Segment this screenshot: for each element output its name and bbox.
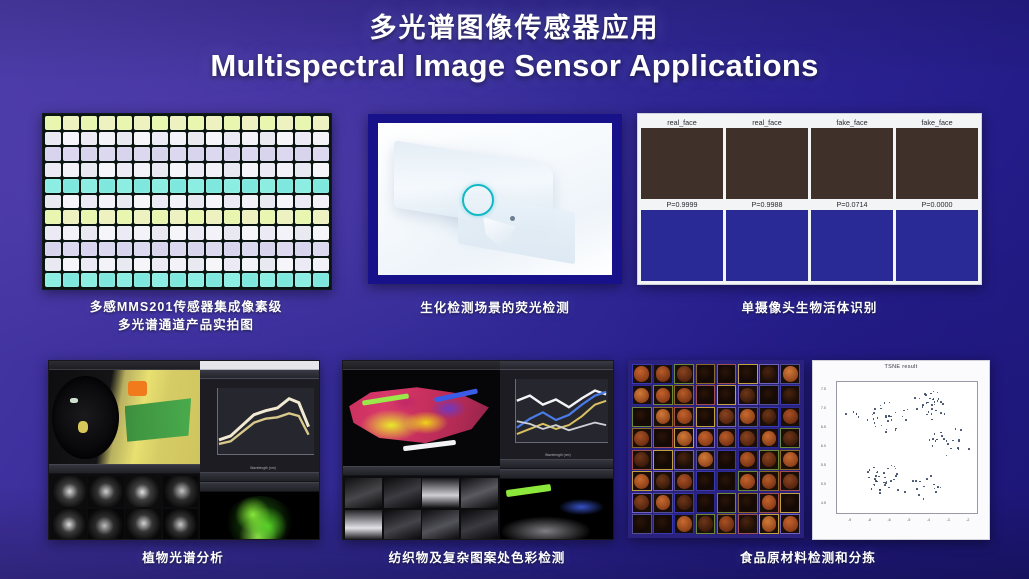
filter-cell bbox=[188, 273, 204, 287]
specimen bbox=[740, 431, 755, 446]
annotation-line-green bbox=[506, 484, 552, 497]
scatter-point bbox=[930, 475, 932, 477]
specimen-cell bbox=[674, 450, 694, 470]
filter-cell bbox=[242, 195, 258, 209]
filter-cell bbox=[134, 147, 150, 161]
filter-cell bbox=[277, 226, 293, 240]
filter-cell bbox=[117, 210, 133, 224]
filter-cell bbox=[117, 132, 133, 146]
scatter-point bbox=[890, 480, 892, 482]
app-menubar[interactable] bbox=[343, 361, 500, 370]
filter-cell bbox=[188, 195, 204, 209]
channel-thumbnail[interactable] bbox=[345, 478, 382, 508]
filter-cell bbox=[99, 242, 115, 256]
scatter-point bbox=[929, 439, 931, 441]
filter-cell bbox=[313, 147, 329, 161]
specimen-cell bbox=[738, 471, 758, 491]
specimen-cell bbox=[780, 385, 800, 405]
filter-cell bbox=[277, 116, 293, 130]
filter-cell bbox=[170, 132, 186, 146]
filter-cell bbox=[277, 132, 293, 146]
face-label: real_face bbox=[641, 117, 723, 128]
specimen bbox=[634, 516, 649, 531]
brand-text bbox=[125, 398, 192, 441]
filter-cell bbox=[152, 116, 168, 130]
x-axis-tick: -4 bbox=[927, 518, 930, 522]
filter-cell bbox=[170, 179, 186, 193]
channel-thumbnail[interactable] bbox=[461, 478, 498, 508]
filter-cell bbox=[277, 147, 293, 161]
classification-result-view bbox=[500, 479, 613, 540]
filter-cell bbox=[242, 179, 258, 193]
channel-thumbnail[interactable] bbox=[422, 510, 459, 540]
specimen bbox=[677, 366, 692, 381]
app-menubar[interactable] bbox=[49, 361, 200, 370]
scatter-point bbox=[958, 439, 960, 441]
scatter-point bbox=[931, 404, 933, 406]
scatter-point bbox=[958, 441, 960, 443]
specimen bbox=[783, 516, 798, 531]
filter-cell bbox=[99, 258, 115, 272]
scatter-point bbox=[932, 438, 934, 440]
caption-textile-color: 纺织物及复杂图案处色彩检测 bbox=[342, 549, 612, 567]
filter-cell bbox=[134, 226, 150, 240]
specimen bbox=[698, 366, 713, 381]
scatter-point bbox=[884, 477, 886, 479]
filter-cell bbox=[81, 163, 97, 177]
caption-line-1: 生化检测场景的荧光检测 bbox=[368, 299, 622, 317]
filter-cell bbox=[152, 163, 168, 177]
scatter-point bbox=[877, 417, 879, 419]
specimen bbox=[698, 388, 713, 403]
filter-cell bbox=[206, 195, 222, 209]
plant-live-view bbox=[49, 370, 200, 464]
probability-label: P=0.0714 bbox=[811, 199, 893, 210]
filter-cell bbox=[170, 273, 186, 287]
scatter-point bbox=[856, 413, 858, 415]
spectral-curves bbox=[515, 379, 608, 443]
thumbnail-pane-header bbox=[343, 466, 500, 476]
filter-cell bbox=[45, 132, 61, 146]
scatter-point bbox=[868, 477, 870, 479]
panel-food-sorting bbox=[628, 360, 804, 538]
filter-cell bbox=[81, 179, 97, 193]
filter-cell bbox=[295, 179, 311, 193]
specimen-cell bbox=[696, 364, 716, 384]
filter-cell bbox=[206, 273, 222, 287]
scatter-point bbox=[937, 392, 939, 394]
y-axis-tick: 7.5 bbox=[821, 387, 826, 391]
filter-cell bbox=[224, 132, 240, 146]
filter-cell bbox=[99, 179, 115, 193]
scatter-point bbox=[915, 480, 917, 482]
scatter-point bbox=[879, 492, 881, 494]
filter-cell bbox=[313, 163, 329, 177]
scatter-point bbox=[871, 488, 873, 490]
filter-cell bbox=[63, 226, 79, 240]
channel-thumbnail[interactable] bbox=[163, 476, 199, 507]
caption-line-1: 多感MMS201传感器集成像素级 bbox=[42, 298, 330, 316]
caption-sensor-array: 多感MMS201传感器集成像素级 多光谱通道产品实拍图 bbox=[42, 298, 330, 334]
specimen-cell bbox=[632, 364, 652, 384]
filter-cell bbox=[260, 226, 276, 240]
filter-cell bbox=[45, 195, 61, 209]
specimen-cell bbox=[738, 364, 758, 384]
filter-cell bbox=[295, 116, 311, 130]
specimen-cell bbox=[738, 385, 758, 405]
caption-plant-spectra: 植物光谱分析 bbox=[48, 549, 318, 567]
filter-cell bbox=[63, 195, 79, 209]
filter-cell bbox=[152, 226, 168, 240]
filter-cell bbox=[81, 210, 97, 224]
filter-cell bbox=[260, 195, 276, 209]
specimen bbox=[634, 366, 649, 381]
scatter-point bbox=[874, 408, 876, 410]
specimen-cell bbox=[653, 471, 673, 491]
scatter-point bbox=[928, 411, 930, 413]
filter-cell bbox=[170, 226, 186, 240]
specimen bbox=[783, 388, 798, 403]
specimen-cell bbox=[717, 514, 737, 534]
filter-cell bbox=[206, 132, 222, 146]
plant-right-pane: Wavelength (nm) bbox=[200, 361, 319, 539]
scatter-point bbox=[940, 487, 942, 489]
specimen bbox=[740, 452, 755, 467]
specimen bbox=[762, 516, 777, 531]
specimen-cell bbox=[780, 471, 800, 491]
filter-cell bbox=[99, 226, 115, 240]
y-axis-tick: 5.5 bbox=[821, 463, 826, 467]
filter-cell bbox=[277, 195, 293, 209]
filter-cell bbox=[117, 147, 133, 161]
filter-cell bbox=[206, 163, 222, 177]
filter-cell bbox=[63, 210, 79, 224]
specimen bbox=[634, 388, 649, 403]
filter-cell bbox=[45, 210, 61, 224]
scatter-point bbox=[940, 401, 942, 403]
caption-fluorescence: 生化检测场景的荧光检测 bbox=[368, 299, 622, 317]
specimen-cell bbox=[696, 514, 716, 534]
caption-line-1: 植物光谱分析 bbox=[48, 549, 318, 567]
face-label: fake_face bbox=[811, 117, 893, 128]
specimen bbox=[656, 495, 671, 510]
spectrograph-titlebar bbox=[500, 361, 613, 370]
y-axis-tick: 4.5 bbox=[821, 501, 826, 505]
textile-false-color-view bbox=[343, 370, 500, 466]
filter-cell bbox=[99, 147, 115, 161]
specimen bbox=[698, 409, 713, 424]
filter-cell bbox=[134, 210, 150, 224]
scatter-point bbox=[881, 425, 883, 427]
specimen-cell bbox=[632, 514, 652, 534]
specimen-cell bbox=[696, 407, 716, 427]
channel-thumbnail[interactable] bbox=[51, 476, 87, 507]
specimen bbox=[656, 409, 671, 424]
filter-cell bbox=[206, 226, 222, 240]
filter-cell bbox=[63, 116, 79, 130]
filter-cell bbox=[45, 242, 61, 256]
scatter-point bbox=[897, 489, 899, 491]
specimen-cell bbox=[738, 450, 758, 470]
scatter-point bbox=[869, 469, 871, 471]
scatter-point bbox=[918, 494, 920, 496]
specimen-cell bbox=[759, 428, 779, 448]
scatter-point bbox=[934, 404, 936, 406]
specimen-cell bbox=[717, 428, 737, 448]
scatter-point bbox=[887, 468, 889, 470]
scatter-point bbox=[958, 448, 960, 450]
specimen-cell bbox=[674, 514, 694, 534]
filter-cell bbox=[170, 116, 186, 130]
y-axis-tick: 6.5 bbox=[821, 425, 826, 429]
plant-left-pane bbox=[49, 361, 200, 539]
scatter-point bbox=[891, 465, 893, 467]
scatter-point bbox=[934, 488, 936, 490]
scatter-point bbox=[885, 417, 887, 419]
scatter-point bbox=[907, 409, 909, 411]
specimen-cell bbox=[738, 514, 758, 534]
filter-cell bbox=[313, 132, 329, 146]
filter-cell bbox=[152, 273, 168, 287]
channel-thumbnail[interactable] bbox=[88, 476, 124, 507]
specimen bbox=[677, 452, 692, 467]
specimen bbox=[762, 452, 777, 467]
scatter-point bbox=[889, 402, 891, 404]
filter-cell bbox=[81, 195, 97, 209]
filter-cell bbox=[277, 242, 293, 256]
scatter-point bbox=[876, 481, 878, 483]
scatter-point bbox=[867, 471, 869, 473]
specimen bbox=[719, 431, 734, 446]
fluorescence-marker-icon bbox=[462, 184, 494, 216]
filter-cell bbox=[260, 242, 276, 256]
filter-cell bbox=[313, 195, 329, 209]
specimen-cell bbox=[653, 493, 673, 513]
specimen-cell bbox=[738, 493, 758, 513]
filter-cell bbox=[206, 116, 222, 130]
filter-cell bbox=[117, 273, 133, 287]
filter-cell bbox=[260, 116, 276, 130]
filter-cell bbox=[170, 210, 186, 224]
specimen-cell bbox=[632, 385, 652, 405]
cartridge-port bbox=[510, 216, 515, 221]
specimen-cell bbox=[696, 450, 716, 470]
specimen bbox=[740, 495, 755, 510]
channel-thumbnail[interactable] bbox=[422, 478, 459, 508]
x-axis-tick: -8 bbox=[868, 518, 871, 522]
specimen bbox=[634, 452, 649, 467]
scatter-point bbox=[890, 416, 892, 418]
slide-title-block: 多光谱图像传感器应用 Multispectral Image Sensor Ap… bbox=[0, 14, 1029, 83]
filter-cell bbox=[117, 116, 133, 130]
specimen-cell bbox=[632, 407, 652, 427]
fluorescence-photo bbox=[378, 123, 612, 275]
scatter-point bbox=[937, 400, 939, 402]
specimen-cell bbox=[759, 450, 779, 470]
scatter-plot-area: -9-8-6-5-4-3-27.57.06.56.05.55.04.5 bbox=[836, 381, 979, 515]
page-title-chinese: 多光谱图像传感器应用 bbox=[0, 14, 1029, 44]
specimen-cell bbox=[653, 364, 673, 384]
filter-cell bbox=[188, 226, 204, 240]
filter-cell bbox=[313, 242, 329, 256]
scatter-point bbox=[873, 418, 875, 420]
specimen-cell bbox=[717, 493, 737, 513]
filter-cell bbox=[117, 195, 133, 209]
filter-cell bbox=[81, 226, 97, 240]
page-title-english: Multispectral Image Sensor Applications bbox=[0, 49, 1029, 84]
scatter-point bbox=[968, 448, 970, 450]
filter-cell bbox=[81, 147, 97, 161]
spectral-curves bbox=[217, 388, 314, 455]
filter-cell bbox=[242, 116, 258, 130]
scatter-point bbox=[873, 467, 875, 469]
specimen bbox=[698, 452, 713, 467]
specimen-cell bbox=[759, 385, 779, 405]
filter-cell bbox=[45, 258, 61, 272]
filter-cell bbox=[63, 132, 79, 146]
specimen bbox=[740, 388, 755, 403]
specimen bbox=[783, 495, 798, 510]
filter-cell bbox=[224, 258, 240, 272]
panel-textile-color: Wavelength (nm) bbox=[342, 360, 614, 540]
specimen-cell bbox=[674, 493, 694, 513]
brand-mark bbox=[128, 381, 148, 396]
channel-thumbnail[interactable] bbox=[384, 478, 421, 508]
scatter-point bbox=[893, 479, 895, 481]
filter-cell bbox=[224, 147, 240, 161]
caption-food-sorting: 食品原材料检测和分拣 bbox=[628, 549, 988, 567]
scatter-point bbox=[845, 413, 847, 415]
filter-cell bbox=[224, 179, 240, 193]
face-image-row: real_face real_face fake_face fake_face bbox=[641, 117, 978, 199]
specimen bbox=[656, 388, 671, 403]
filter-cell bbox=[313, 210, 329, 224]
filter-cell bbox=[313, 116, 329, 130]
chart-title: TSNE result bbox=[813, 364, 989, 370]
app-tabbar[interactable] bbox=[200, 361, 319, 370]
channel-thumbnail[interactable] bbox=[461, 510, 498, 540]
scatter-point bbox=[875, 426, 877, 428]
specimen-cell bbox=[696, 385, 716, 405]
specimen-cell bbox=[780, 364, 800, 384]
specimen-cell bbox=[717, 385, 737, 405]
specimen bbox=[698, 495, 713, 510]
scatter-point bbox=[912, 480, 914, 482]
specimen-cell bbox=[674, 364, 694, 384]
channel-thumbnail[interactable] bbox=[51, 509, 87, 540]
panel-sensor-array bbox=[42, 113, 332, 290]
filter-cell bbox=[277, 210, 293, 224]
channel-thumbnail[interactable] bbox=[125, 509, 161, 540]
scatter-point bbox=[932, 445, 934, 447]
filter-cell bbox=[188, 179, 204, 193]
channel-thumbnail[interactable] bbox=[88, 509, 124, 540]
panel-header-strip bbox=[500, 459, 613, 469]
spectrograph-chart: Wavelength (nm) bbox=[500, 370, 613, 459]
specimen-cell bbox=[780, 450, 800, 470]
scatter-point bbox=[927, 402, 929, 404]
filter-cell bbox=[99, 195, 115, 209]
filter-cell bbox=[242, 163, 258, 177]
filter-cell bbox=[134, 163, 150, 177]
seed-sample bbox=[70, 398, 78, 403]
spectrograph-chart: Wavelength (nm) bbox=[200, 379, 319, 472]
channel-thumbnail[interactable] bbox=[125, 476, 161, 507]
filter-cell bbox=[99, 116, 115, 130]
specimen-cell bbox=[759, 514, 779, 534]
scatter-point bbox=[926, 478, 928, 480]
caption-line-2: 多光谱通道产品实拍图 bbox=[42, 316, 330, 334]
specimen-cell bbox=[653, 385, 673, 405]
specimen bbox=[698, 474, 713, 489]
classification-header bbox=[200, 482, 319, 492]
scatter-point bbox=[933, 484, 935, 486]
classification-header bbox=[500, 469, 613, 479]
filter-cell bbox=[134, 273, 150, 287]
filter-cell bbox=[63, 147, 79, 161]
specimen bbox=[698, 431, 713, 446]
scatter-point bbox=[943, 438, 945, 440]
scatter-point bbox=[929, 398, 931, 400]
probability-label: P=0.9988 bbox=[726, 199, 808, 210]
filter-cell bbox=[152, 132, 168, 146]
scatter-point bbox=[923, 498, 925, 500]
panel-fluorescence bbox=[368, 114, 622, 284]
filter-cell bbox=[188, 147, 204, 161]
panel-header-strip bbox=[200, 472, 319, 482]
specimen bbox=[740, 516, 755, 531]
panel-plant-spectra: Wavelength (nm) bbox=[48, 360, 320, 540]
specimen bbox=[740, 366, 755, 381]
specimen bbox=[677, 409, 692, 424]
specimen-cell bbox=[674, 471, 694, 491]
filter-cell bbox=[295, 210, 311, 224]
specimen-cell bbox=[759, 364, 779, 384]
scatter-point bbox=[946, 455, 948, 457]
specimen-cell bbox=[717, 450, 737, 470]
channel-thumbnail[interactable] bbox=[345, 510, 382, 540]
heatmap-column: P=0.9999 bbox=[641, 199, 723, 281]
probability-label: P=0.9999 bbox=[641, 199, 723, 210]
filter-cell bbox=[242, 132, 258, 146]
filter-cell bbox=[206, 147, 222, 161]
channel-thumbnail[interactable] bbox=[163, 509, 199, 540]
heatmap-column: P=0.0000 bbox=[896, 199, 978, 281]
filter-cell bbox=[260, 147, 276, 161]
scatter-point bbox=[885, 431, 887, 433]
filter-cell bbox=[45, 163, 61, 177]
filter-cell bbox=[99, 273, 115, 287]
filter-cell bbox=[188, 258, 204, 272]
specimen bbox=[719, 452, 734, 467]
x-axis-tick: -6 bbox=[887, 518, 890, 522]
scatter-point bbox=[903, 410, 905, 412]
scatter-point bbox=[935, 491, 937, 493]
filter-cell bbox=[242, 210, 258, 224]
filter-cell bbox=[152, 195, 168, 209]
specimen-cell bbox=[738, 428, 758, 448]
channel-thumbnail[interactable] bbox=[384, 510, 421, 540]
filter-cell bbox=[152, 147, 168, 161]
spectral-classification-blob bbox=[226, 496, 293, 540]
activation-heatmap bbox=[726, 210, 808, 281]
scatter-point bbox=[935, 410, 937, 412]
filter-cell bbox=[224, 163, 240, 177]
specimen bbox=[677, 388, 692, 403]
spectrograph-titlebar bbox=[200, 370, 319, 379]
filter-cell bbox=[81, 258, 97, 272]
filter-cell bbox=[134, 132, 150, 146]
